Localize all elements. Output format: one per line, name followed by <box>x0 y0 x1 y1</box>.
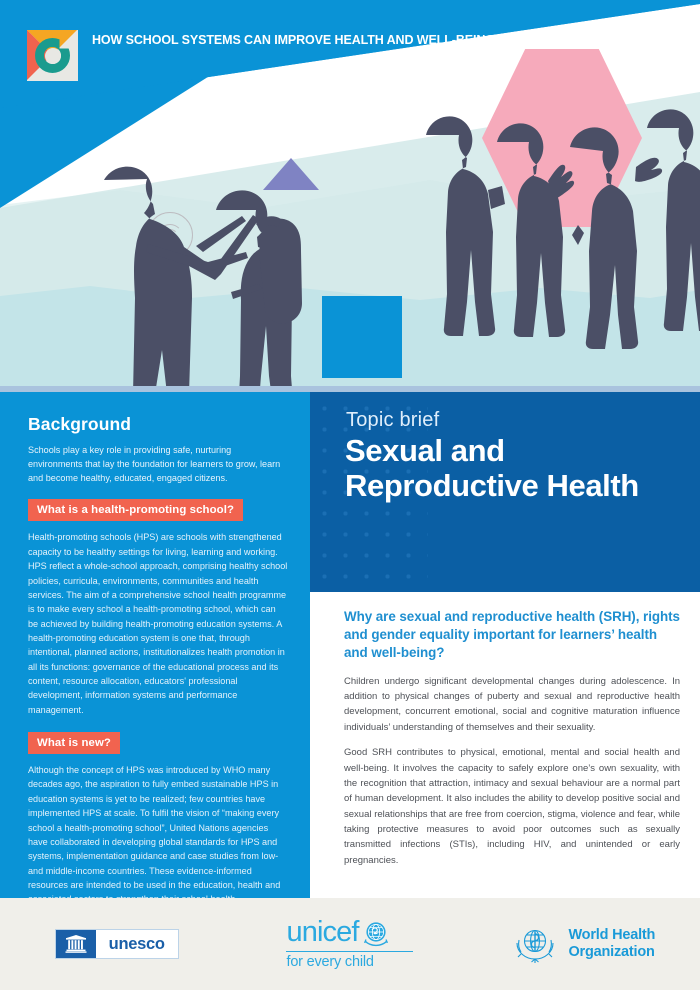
unesco-temple-icon <box>56 930 96 958</box>
background-heading: Background <box>28 414 288 435</box>
who-logo-slot: World Health Organization <box>467 924 700 964</box>
conversation-group-silhouettes <box>400 95 700 392</box>
topic-paragraph-1: Children undergo significant development… <box>344 674 680 736</box>
hero-divider <box>0 386 700 392</box>
topic-question-heading: Why are sexual and reproductive health (… <box>344 608 680 663</box>
topic-paragraph-2: Good SRH contributes to physical, emotio… <box>344 745 680 868</box>
unicef-logo: unicef for every child <box>286 918 413 970</box>
unesco-logo: unesco <box>55 929 179 959</box>
background-paragraph: Schools play a key role in providing saf… <box>28 444 288 485</box>
badge-health-promoting-school: What is a health-promoting school? <box>28 499 243 521</box>
background-panel: Background Schools play a key role in pr… <box>0 392 310 898</box>
who-emblem-icon <box>511 924 559 964</box>
poster-header: HOW SCHOOL SYSTEMS CAN IMPROVE HEALTH AN… <box>0 0 700 130</box>
unesco-wordmark: unesco <box>96 930 178 958</box>
topic-brief-panel: Topic brief Sexual and Reproductive Heal… <box>310 392 700 592</box>
unesco-logo-slot: unesco <box>0 929 233 959</box>
badge-what-is-new: What is new? <box>28 732 120 754</box>
who-wordmark: World Health Organization <box>568 927 655 961</box>
health-promoting-school-paragraph: Health-promoting schools (HPS) are schoo… <box>28 530 288 717</box>
header-title: HOW SCHOOL SYSTEMS CAN IMPROVE HEALTH AN… <box>92 30 495 49</box>
partner-logos-footer: unesco unicef <box>0 898 700 990</box>
who-logo: World Health Organization <box>511 924 655 964</box>
who-line-1: World Health <box>568 927 655 944</box>
unicef-divider <box>286 951 413 952</box>
who-line-2: Organization <box>568 944 655 961</box>
unicef-globe-icon <box>361 918 391 948</box>
unicef-logo-slot: unicef for every child <box>233 918 466 970</box>
unicef-wordmark: unicef <box>286 918 358 947</box>
topic-kicker: Topic brief <box>346 409 439 432</box>
topic-title: Sexual and Reproductive Health <box>345 434 700 503</box>
unicef-tagline: for every child <box>286 954 413 970</box>
poster-page: HOW SCHOOL SYSTEMS CAN IMPROVE HEALTH AN… <box>0 0 700 990</box>
topic-content-panel: Why are sexual and reproductive health (… <box>310 592 700 898</box>
how-school-systems-logo-icon <box>27 30 78 81</box>
